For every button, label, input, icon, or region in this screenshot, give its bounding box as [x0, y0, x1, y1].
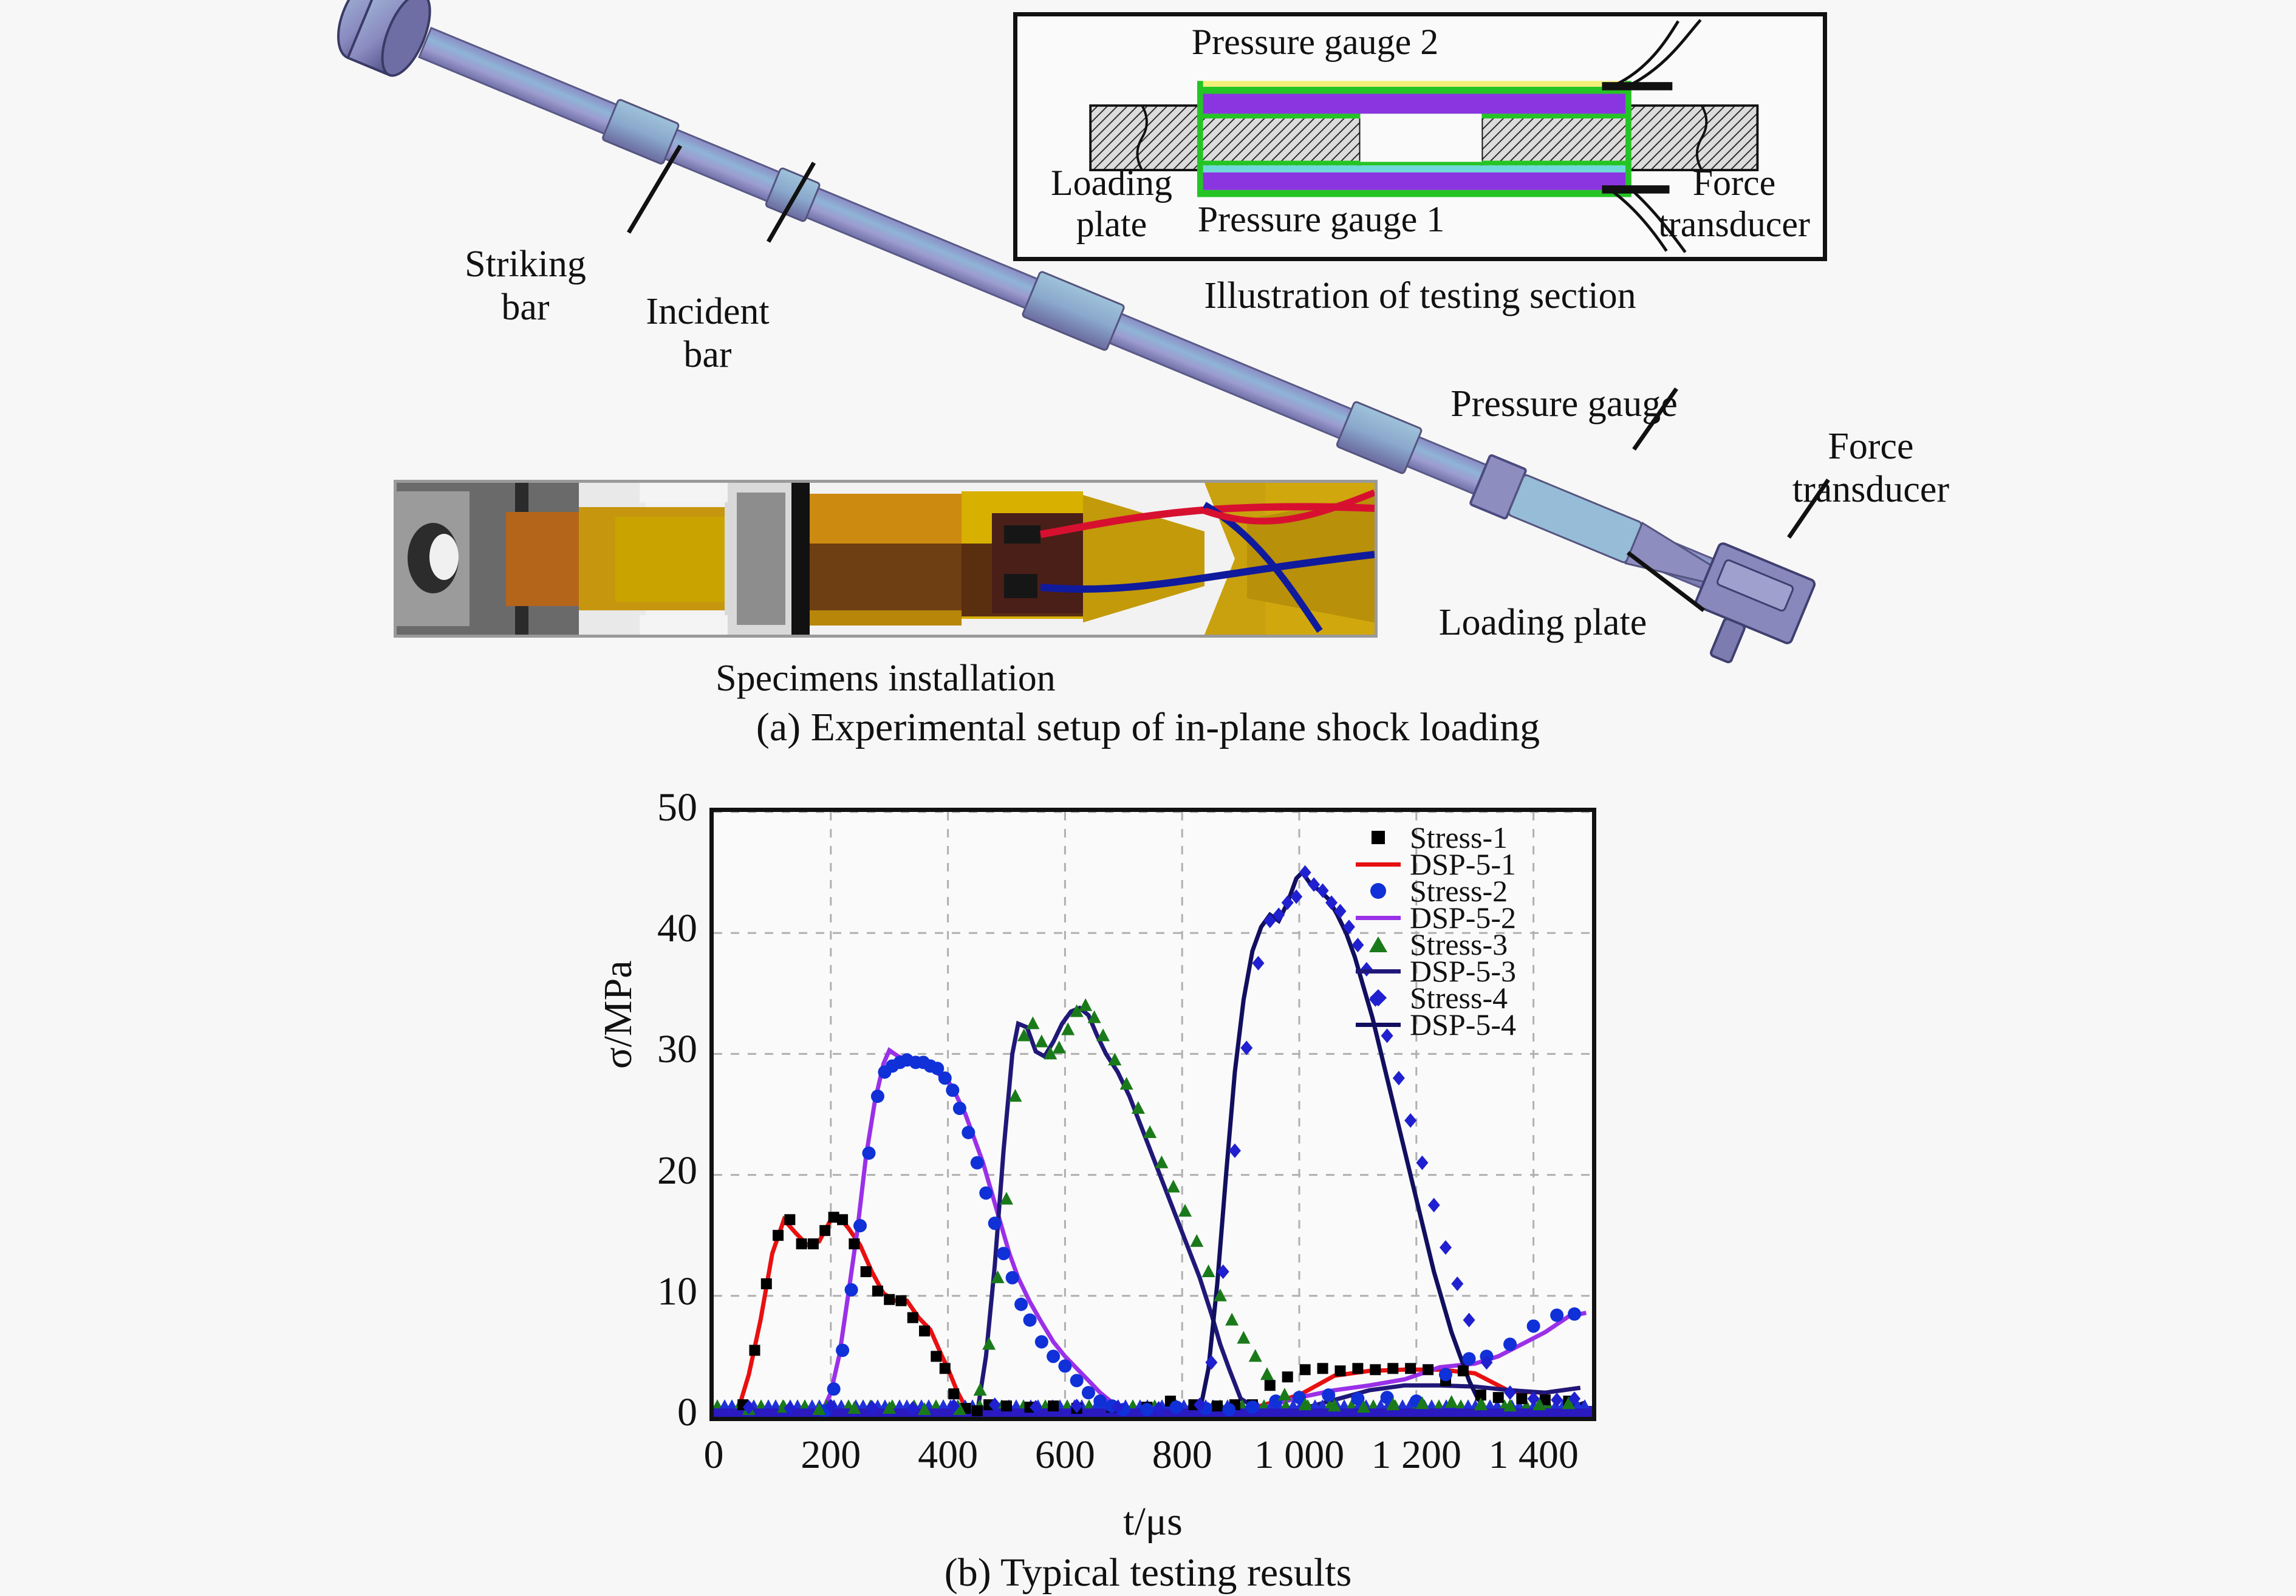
specimen-photo [394, 480, 1378, 638]
legend-marker-square-icon [1350, 824, 1406, 851]
pressure-gauge-1-layer [1197, 161, 1631, 197]
y-tick-10: 10 [545, 1272, 697, 1312]
panel-b-testing-results: σ/MPa 01020304050 02004006008001 0001 20… [0, 783, 2296, 1595]
chart-legend: Stress-1DSP-5-1Stress-2DSP-5-2Stress-3DS… [1350, 824, 1587, 1038]
legend-item-dsp-5-4: DSP-5-4 [1350, 1011, 1587, 1038]
legend-marker-diamond-icon [1350, 984, 1406, 1011]
panel-a-experimental-setup: Striking bar Incident bar Pressure gauge… [0, 0, 2296, 783]
label-loading-plate: Loading plate [1391, 601, 1695, 644]
pressure-gauge-2-layer [1197, 81, 1631, 118]
legend-label: DSP-5-4 [1410, 1009, 1516, 1040]
y-tick-40: 40 [545, 909, 697, 949]
plot-area: Stress-1DSP-5-1Stress-2DSP-5-2Stress-3DS… [709, 808, 1596, 1421]
inset-label-force-transducer: Force transducer [1637, 162, 1831, 245]
legend-marker-triangle-icon [1350, 931, 1406, 958]
specimen-photo-content [397, 483, 1375, 635]
label-force-transducer: Force transducer [1743, 425, 1998, 511]
inset-label-pressure-gauge-2: Pressure gauge 2 [1102, 21, 1528, 63]
markers-Stress-2 [818, 1053, 1581, 1417]
inset-testing-section: Pressure gauge 2 Pressure gauge 1 Loadin… [1013, 12, 1827, 261]
caption-panel-a: (a) Experimental setup of in-plane shock… [0, 704, 2296, 751]
y-tick-50: 50 [545, 788, 697, 828]
legend-marker-line-icon [1350, 1011, 1406, 1038]
markers-Stress-1 [737, 1212, 1574, 1416]
y-tick-20: 20 [545, 1151, 697, 1191]
legend-marker-line-icon [1350, 851, 1406, 878]
label-pressure-gauge: Pressure gauge [1397, 383, 1731, 426]
photo-caption: Specimens installation [394, 657, 1378, 700]
inset-label-loading-plate: Loading plate [1023, 162, 1200, 245]
legend-marker-circle-icon [1350, 878, 1406, 904]
inset-caption: Illustration of testing section [1013, 275, 1827, 318]
x-axis-label: t/μs [709, 1499, 1596, 1545]
legend-marker-line-icon [1350, 958, 1406, 984]
markers-Stress-3 [742, 998, 1576, 1415]
caption-panel-b: (b) Typical testing results [0, 1550, 2296, 1596]
label-striking-bar: Striking bar [425, 243, 626, 329]
y-tick-30: 30 [545, 1029, 697, 1069]
legend-marker-line-icon [1350, 904, 1406, 931]
label-incident-bar: Incident bar [607, 290, 808, 376]
y-tick-0: 0 [545, 1393, 697, 1433]
x-tick-1400: 1 400 [1455, 1432, 1613, 1478]
x-axis-label-text: t/μs [1123, 1499, 1183, 1544]
